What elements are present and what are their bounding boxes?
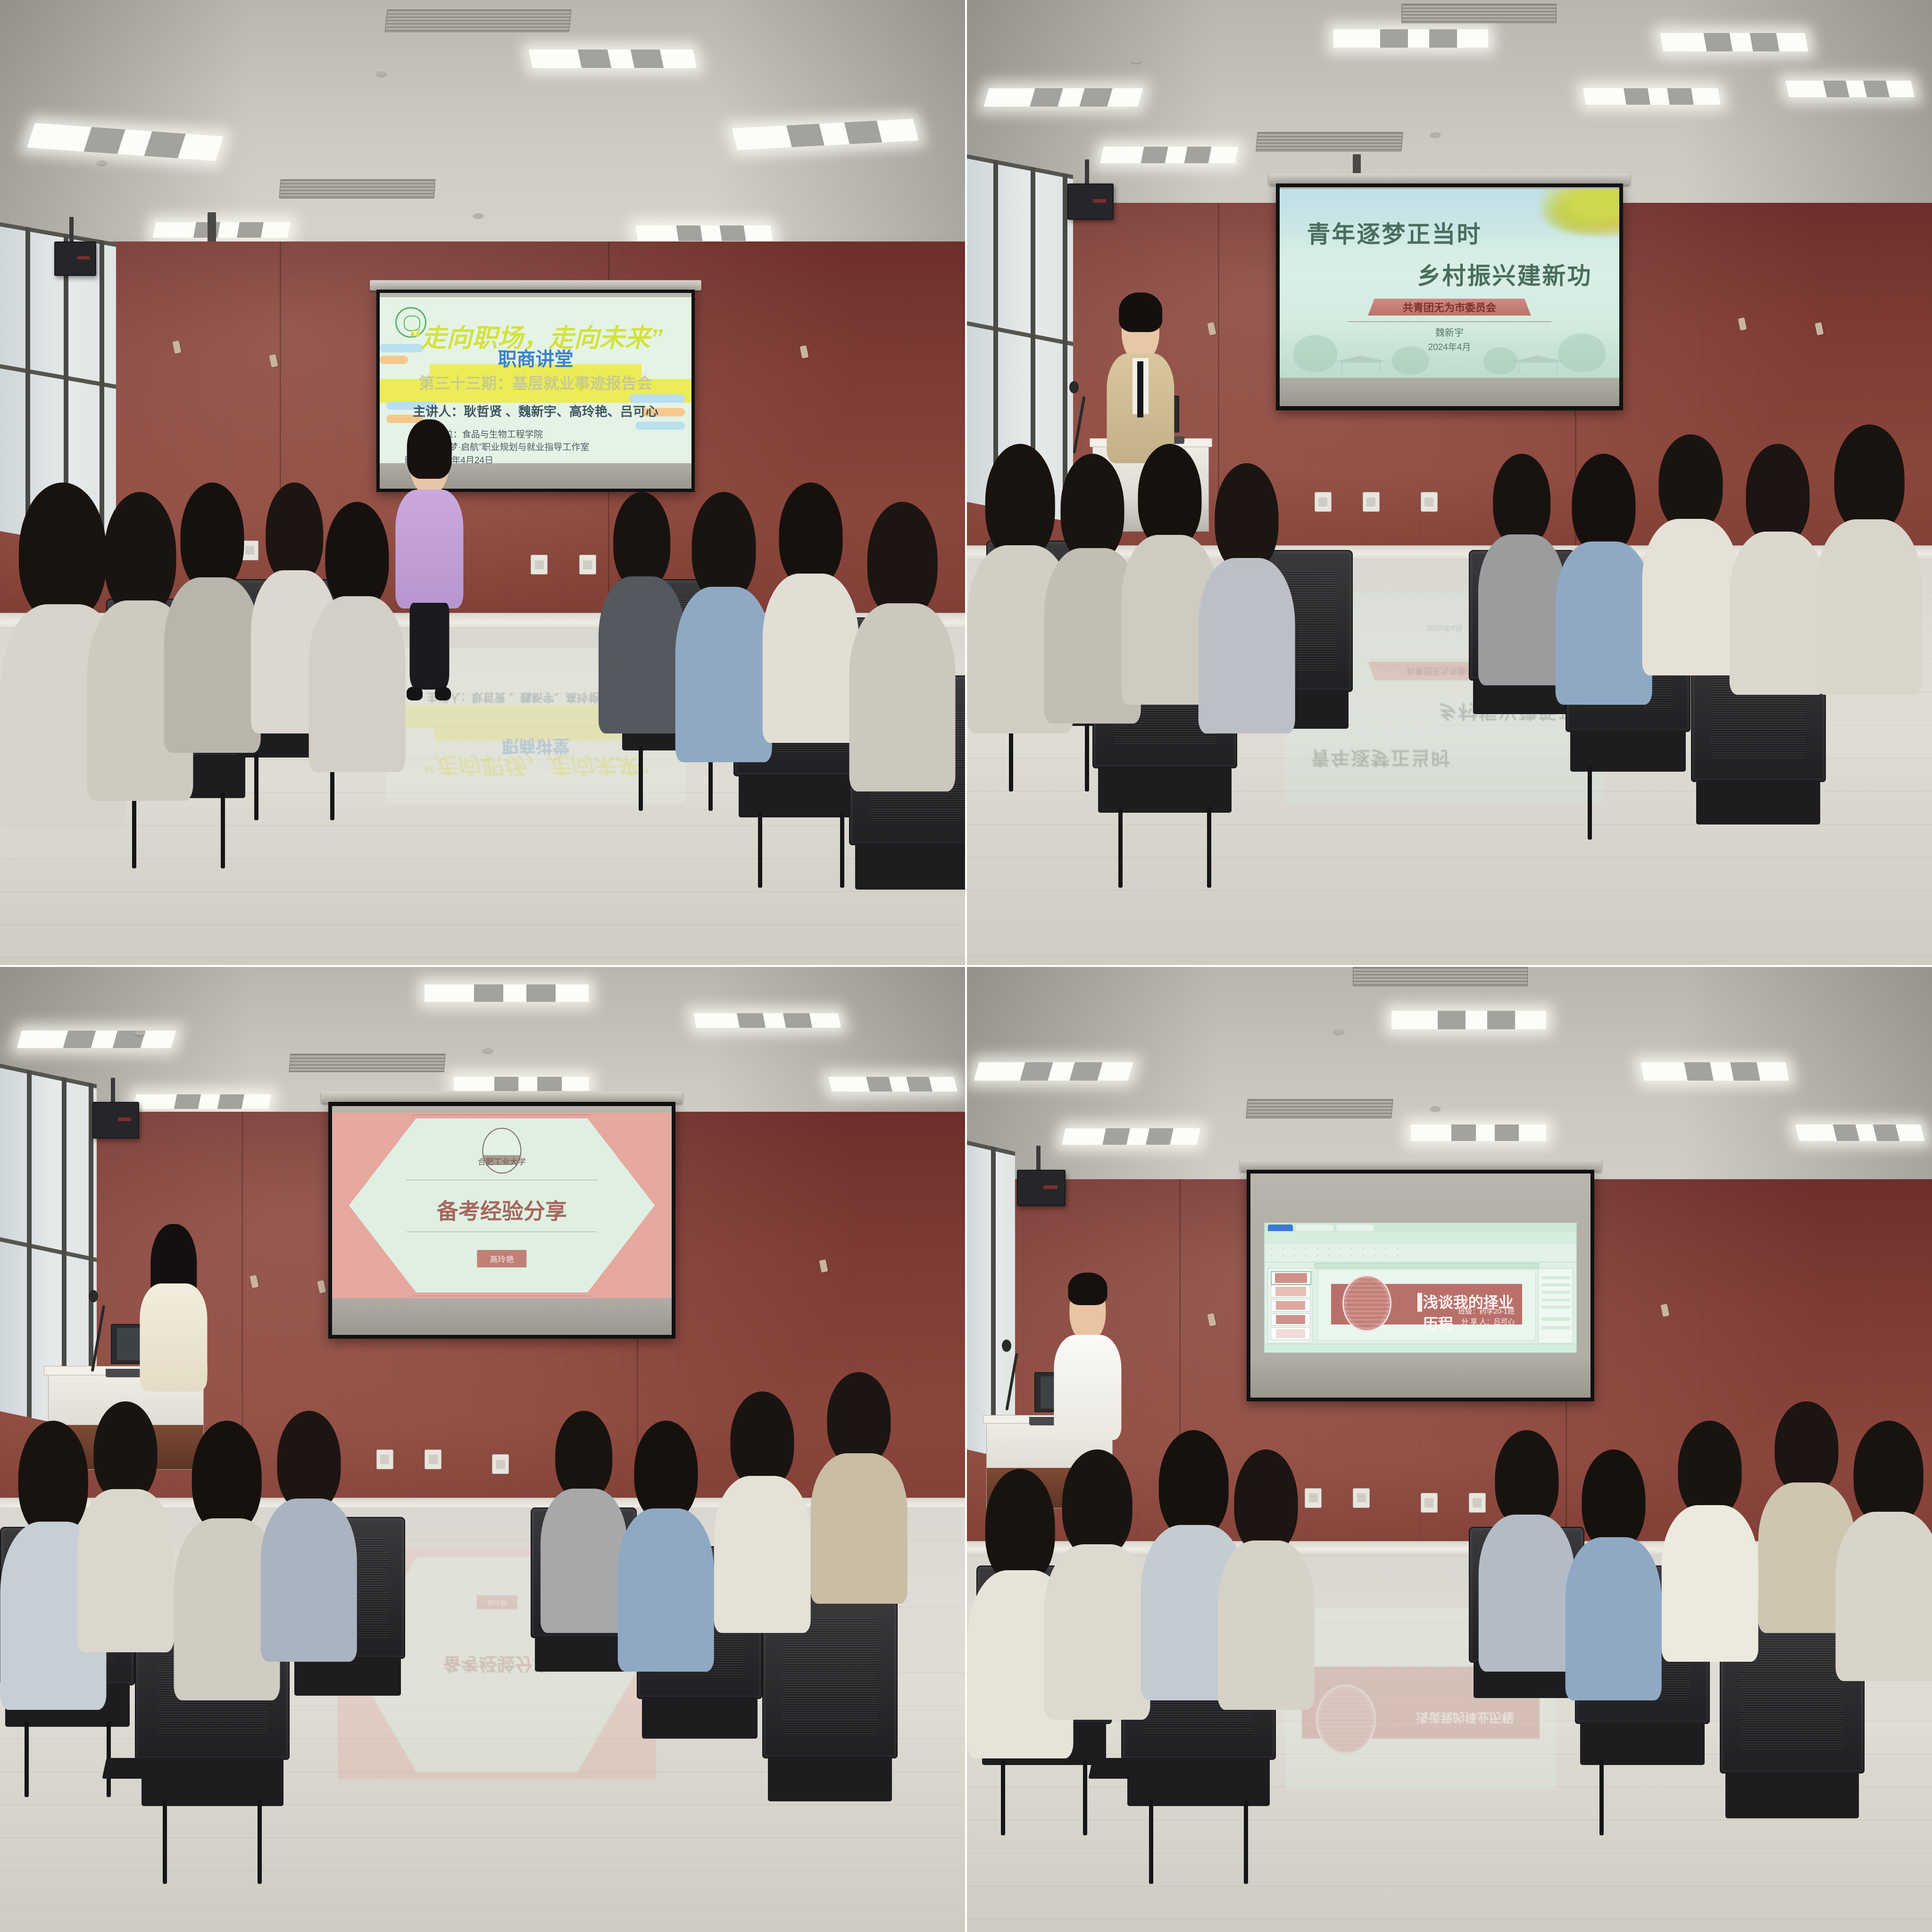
editor-side-panel[interactable] — [1538, 1268, 1574, 1343]
chair-seat — [142, 1758, 283, 1806]
audience-head — [692, 492, 756, 600]
slide-thumbnail-panel[interactable] — [1268, 1268, 1313, 1343]
university-seal-icon — [1342, 1275, 1391, 1331]
chair-leg — [1599, 1760, 1604, 1835]
audience-head — [613, 492, 671, 589]
smoke-detector-icon — [1333, 1029, 1344, 1034]
chair-leg — [1149, 1800, 1153, 1884]
audience-shoulders — [599, 576, 685, 733]
presenter — [1107, 299, 1174, 463]
power-outlet — [376, 1449, 393, 1469]
audience-member — [762, 483, 859, 743]
panel-bottom-left: 合肥工业大学 备考经验分享 高玲艳 备考经验分享 高玲艳 — [0, 967, 965, 1932]
slide-title: 备考经验分享 — [332, 1194, 672, 1225]
audience-shoulders — [77, 1489, 174, 1652]
power-outlet — [492, 1454, 509, 1474]
window-frame — [0, 364, 116, 389]
audience-head — [1138, 444, 1201, 548]
audience-shoulders — [1566, 1537, 1662, 1700]
ceiling-light — [425, 984, 589, 1002]
audience-head — [867, 502, 938, 618]
audience-shoulders — [617, 1508, 714, 1672]
power-outlet — [1421, 1493, 1438, 1513]
projection-screen: · · · · · · · · · · ▫ ▫ ▫ ▫ ▫ ▫ ▫ ▫ ▫ ▫ … — [1247, 1170, 1594, 1401]
chair-leg — [1085, 721, 1089, 791]
wall-speaker — [92, 1102, 139, 1139]
editor-title-bar — [1265, 1223, 1576, 1232]
slide-exam-prep: 合肥工业大学 备考经验分享 高玲艳 — [332, 1113, 672, 1298]
audience-shoulders — [309, 596, 406, 772]
screen-frame: 青年逐梦正当时 乡村振兴建新功 共青团无为市委员会 魏新宇 2024年4月 — [1276, 183, 1624, 410]
chair-leg — [163, 1800, 167, 1884]
ceiling-light — [17, 1031, 176, 1048]
chair-seat — [1127, 1758, 1269, 1806]
ceiling-light — [1411, 1124, 1546, 1141]
chair-seat — [294, 1657, 401, 1696]
chair — [762, 1594, 897, 1874]
slide-thumbnail[interactable] — [1271, 1299, 1310, 1312]
projection-screen: 青年逐梦正当时 乡村振兴建新功 共青团无为市委员会 魏新宇 2024年4月 — [1276, 183, 1624, 410]
presenter-torso — [396, 490, 463, 608]
audience-head — [1572, 454, 1636, 554]
ceiling-light — [1333, 29, 1488, 48]
slide-subtitle: 职商讲堂 — [380, 344, 691, 371]
audience-head — [1582, 1449, 1645, 1550]
thumbnail-preview — [1276, 1329, 1305, 1338]
audience-member — [849, 502, 955, 791]
audience-head — [1493, 454, 1551, 546]
slide-meta-line1: 班级：药学20-1班 — [1438, 1307, 1515, 1317]
slide-university-name: 合肥工业大学 — [332, 1155, 672, 1167]
audience-head — [779, 483, 842, 587]
audience-member — [617, 1421, 714, 1672]
chair-seat — [739, 774, 863, 818]
slide-title-line2: 乡村振兴建新功 — [1417, 257, 1592, 291]
audience-member — [1218, 1449, 1315, 1710]
audience-shoulders — [1729, 532, 1826, 695]
editor-status-bar — [1265, 1344, 1576, 1352]
audience-member — [1642, 434, 1739, 676]
slide-date: 2024年4月 — [1280, 340, 1619, 353]
side-panel-row — [1541, 1291, 1570, 1294]
ceiling-light — [1062, 1128, 1200, 1145]
editor-tab[interactable] — [1296, 1224, 1333, 1231]
smoke-detector-icon — [483, 1048, 493, 1053]
audience-shoulders — [1816, 519, 1922, 695]
audience-head — [1678, 1421, 1742, 1517]
audience-head — [1659, 434, 1723, 531]
audience-member — [309, 502, 406, 772]
power-outlet — [531, 555, 548, 575]
side-panel-row — [1541, 1317, 1570, 1320]
audience-member — [1199, 463, 1295, 733]
slide-leaf-decoration-icon — [1524, 189, 1619, 246]
air-vent — [1256, 132, 1403, 151]
ceiling-light — [1583, 88, 1721, 105]
audience-head — [1834, 425, 1905, 533]
ceiling-light — [529, 50, 697, 68]
audience-shoulders — [1835, 1512, 1932, 1681]
chair-leg — [254, 753, 258, 820]
microphone-icon — [1002, 1340, 1011, 1352]
chair-tablet-arm — [1088, 1758, 1142, 1779]
slide-content: 浅谈我的择业历程 班级：药学20-1班 分 享 人：吕可心 — [1331, 1284, 1522, 1324]
audience-member — [1662, 1421, 1758, 1662]
slide-speakers: 主讲人：耿哲贤 、魏新宇、高玲艳、吕可心 — [380, 401, 691, 420]
slide-house-icon — [1511, 356, 1565, 373]
audience-head — [1060, 454, 1124, 562]
chair-seat — [1580, 1722, 1705, 1765]
audience-member — [1816, 425, 1922, 695]
chair-seat — [642, 1697, 758, 1739]
presenter-hair — [407, 419, 452, 479]
audience-head — [192, 1421, 262, 1532]
chair-leg — [25, 1721, 29, 1797]
slide-divider-bottom — [407, 1232, 597, 1232]
ceiling-light — [1660, 33, 1808, 51]
chair-leg — [1083, 1760, 1087, 1835]
audience-member — [1566, 1449, 1662, 1700]
audience-member — [541, 1411, 627, 1633]
slide-career-path-editor: · · · · · · · · · · ▫ ▫ ▫ ▫ ▫ ▫ ▫ ▫ ▫ ▫ … — [1264, 1223, 1577, 1352]
audience-shoulders — [164, 577, 261, 753]
slide-divider-top — [407, 1180, 597, 1181]
presenter-shoe — [407, 687, 423, 700]
chair-leg — [221, 793, 225, 868]
chair-leg — [1244, 1800, 1248, 1884]
audience-head — [1495, 1430, 1558, 1527]
photo-collage: “走向职场，走向未来” 职商讲堂 第三十三期：基层就业事迹报告会 主讲人：耿哲贤… — [0, 0, 1932, 1932]
window-wall — [967, 1141, 1015, 1460]
side-panel-row — [1541, 1299, 1570, 1301]
ceiling-light — [454, 1077, 589, 1091]
slide-presenter-name: 魏新宇 — [1280, 325, 1619, 339]
audience-shoulders — [675, 587, 772, 762]
window-mullion — [27, 1069, 32, 1418]
slide-accent-tick — [1417, 1293, 1422, 1312]
audience-shoulders — [1199, 558, 1295, 733]
presenter-hair — [1068, 1273, 1107, 1306]
audience-head — [1234, 1449, 1298, 1554]
window-frame — [0, 1237, 97, 1262]
presenter-legs — [410, 603, 449, 689]
screen-lower-apron — [1280, 378, 1619, 406]
audience-member — [811, 1372, 908, 1604]
audience-head — [1775, 1401, 1839, 1494]
audience-shoulders — [1478, 534, 1565, 685]
wall-speaker — [1067, 183, 1114, 220]
editor-ribbon-toolbar[interactable]: ▫ ▫ ▫ ▫ ▫ ▫ ▫ ▫ ▫ ▫ ▫ ▫ ▫ ▫ ▫ ▫ ▫ ▫ ▫ ▫ … — [1265, 1244, 1576, 1262]
slide-rural-revitalization: 青年逐梦正当时 乡村振兴建新功 共青团无为市委员会 魏新宇 2024年4月 — [1280, 189, 1619, 378]
audience-member — [260, 1411, 357, 1662]
ribbon-tab-labels: · · · · · · · · · · — [1271, 1234, 1570, 1239]
thumbnail-preview — [1275, 1273, 1307, 1283]
window-mullion — [991, 1146, 996, 1456]
slide-meta-line2: 分 享 人：吕可心 — [1438, 1317, 1515, 1327]
audience-member — [675, 492, 772, 762]
panel-bottom-right: · · · · · · · · · · ▫ ▫ ▫ ▫ ▫ ▫ ▫ ▫ ▫ ▫ … — [967, 967, 1932, 1932]
audience-shoulders — [541, 1489, 627, 1633]
ceiling-light — [636, 225, 774, 241]
slide-title-line1: 青年逐梦正当时 — [1307, 216, 1482, 250]
ceiling-light — [1795, 1124, 1924, 1141]
power-outlet — [1353, 1488, 1370, 1508]
ceiling-light — [974, 1062, 1134, 1081]
chair-seat — [1570, 730, 1686, 772]
air-vent — [1353, 967, 1527, 986]
ceiling-light — [1391, 1011, 1546, 1029]
presenter — [140, 1227, 208, 1391]
slide-session: 第三十三期：基层就业事迹报告会 — [380, 371, 691, 393]
chair-seat — [768, 1757, 892, 1801]
audience-head — [93, 1401, 157, 1502]
audience-member — [164, 483, 261, 753]
screen-surface: 青年逐梦正当时 乡村振兴建新功 共青团无为市委员会 魏新宇 2024年4月 — [1280, 187, 1619, 407]
ceiling-light — [153, 222, 291, 238]
audience-shoulders — [714, 1476, 811, 1632]
presenter-torso — [140, 1283, 208, 1392]
audience-member — [77, 1401, 174, 1652]
editor-tab[interactable] — [1336, 1224, 1374, 1231]
ceiling-light — [1641, 1062, 1789, 1081]
ceiling-light — [1785, 81, 1915, 97]
ceiling-light — [133, 1094, 271, 1109]
chair-leg — [132, 793, 136, 868]
chair-seat — [1098, 766, 1231, 813]
screen-frame: 合肥工业大学 备考经验分享 高玲艳 — [328, 1102, 676, 1338]
presenter — [396, 425, 463, 695]
presenter-shoe — [435, 687, 451, 700]
chair-mesh — [782, 1618, 878, 1735]
window-frame — [967, 321, 1073, 346]
chair-leg — [1207, 807, 1211, 888]
chair-leg — [1001, 1760, 1005, 1835]
power-outlet — [579, 555, 596, 575]
slide-thumbnail[interactable] — [1271, 1285, 1310, 1298]
audience-member — [1478, 1430, 1575, 1672]
editor-ruler — [1315, 1263, 1539, 1268]
editor-slide-canvas[interactable]: 浅谈我的择业历程 班级：药学20-1班 分 享 人：吕可心 — [1318, 1270, 1536, 1341]
ribbon-toolbar-row1: ▫ ▫ ▫ ▫ ▫ ▫ ▫ ▫ ▫ ▫ ▫ ▫ — [1271, 1246, 1570, 1250]
slide-thumbnail[interactable] — [1271, 1271, 1311, 1285]
power-outlet — [425, 1449, 441, 1469]
chair-tablet-arm — [102, 1758, 156, 1779]
presenter-hair — [1119, 292, 1162, 332]
screen-frame: · · · · · · · · · · ▫ ▫ ▫ ▫ ▫ ▫ ▫ ▫ ▫ ▫ … — [1247, 1170, 1594, 1401]
air-vent — [289, 1054, 446, 1072]
chair-leg — [758, 812, 762, 888]
ceiling-light — [693, 1013, 841, 1028]
ceiling-light — [828, 1077, 958, 1091]
slide-divider — [1348, 321, 1551, 322]
power-outlet — [1421, 492, 1438, 512]
audience-shoulders — [811, 1453, 908, 1604]
smoke-detector-icon — [1430, 132, 1441, 137]
chair-leg — [639, 746, 643, 810]
microphone-icon — [1069, 381, 1079, 393]
ribbon-toolbar-row2: ▫ ▫ ▫ ▫ ▫ ▫ ▫ ▫ ▫ ▫ ▫ ▫ — [1271, 1254, 1570, 1258]
smoke-detector-icon — [1430, 1106, 1441, 1111]
side-panel-row — [1541, 1326, 1570, 1329]
audience-member — [714, 1391, 811, 1633]
ceiling-light — [983, 88, 1143, 107]
air-vent — [279, 179, 436, 199]
slide-thumbnail[interactable] — [1271, 1327, 1310, 1340]
audience-shoulders — [1642, 519, 1739, 675]
chair-seat — [1696, 780, 1821, 825]
audience-shoulders — [1218, 1541, 1315, 1710]
chair-seat — [1725, 1772, 1858, 1818]
screen-surface: 合肥工业大学 备考经验分享 高玲艳 — [332, 1106, 672, 1335]
audience-shoulders — [762, 574, 859, 743]
audience-head — [181, 483, 244, 591]
air-vent — [1246, 1099, 1393, 1118]
audience-shoulders — [1478, 1515, 1575, 1671]
audience-head — [634, 1421, 698, 1521]
audience-shoulders — [1556, 541, 1652, 705]
air-vent — [1401, 4, 1557, 23]
chair-leg — [1118, 807, 1123, 888]
smoke-detector-icon — [473, 213, 483, 218]
side-panel-row — [1541, 1306, 1570, 1308]
audience-member — [1044, 1449, 1150, 1720]
slide-meta-block: 班级：药学20-1班 分 享 人：吕可心 — [1438, 1307, 1515, 1327]
presenter-torso — [1054, 1335, 1121, 1440]
chair-seat — [855, 843, 965, 890]
thumbnail-preview — [1275, 1287, 1306, 1296]
side-panel-row — [1541, 1283, 1570, 1286]
audience-member — [1729, 444, 1826, 695]
audience-member — [599, 492, 685, 733]
audience-head — [277, 1411, 341, 1511]
screen-surface: · · · · · · · · · · ▫ ▫ ▫ ▫ ▫ ▫ ▫ ▫ ▫ ▫ … — [1250, 1174, 1590, 1398]
panel-top-left: “走向职场，走向未来” 职商讲堂 第三十三期：基层就业事迹报告会 主讲人：耿哲贤… — [0, 0, 965, 965]
audience-shoulders — [1044, 1544, 1150, 1720]
audience-head — [555, 1411, 613, 1499]
wall-speaker — [54, 241, 97, 276]
thumbnail-preview — [1276, 1301, 1305, 1310]
audience-shoulders — [1662, 1505, 1758, 1662]
audience-member — [1478, 454, 1565, 685]
slide-presenter-tag: 高玲艳 — [477, 1250, 526, 1267]
presenter — [1054, 1276, 1121, 1440]
air-vent — [385, 9, 572, 32]
editor-ribbon-tabs[interactable]: · · · · · · · · · · — [1265, 1232, 1576, 1244]
ceiling-light — [1100, 147, 1239, 163]
side-panel-row — [1541, 1276, 1570, 1279]
chair-leg — [840, 812, 844, 888]
slide-house-icon — [1334, 356, 1388, 373]
audience-head — [1746, 444, 1809, 544]
chair-leg — [258, 1800, 262, 1884]
audience-shoulders — [260, 1499, 357, 1662]
audience-head — [1062, 1449, 1133, 1557]
audience-head — [325, 502, 389, 610]
chair-leg — [1588, 766, 1592, 840]
power-outlet — [1363, 492, 1380, 512]
projection-screen: 合肥工业大学 备考经验分享 高玲艳 — [328, 1102, 676, 1338]
audience-shoulders — [849, 603, 955, 791]
slide-thumbnail[interactable] — [1271, 1313, 1310, 1326]
audience-head — [827, 1372, 891, 1465]
audience-head — [1215, 463, 1279, 571]
presenter-necktie — [1137, 361, 1143, 417]
wall-speaker — [1017, 1170, 1065, 1207]
screen-lower-apron — [1250, 1357, 1590, 1397]
audience-member — [1556, 454, 1652, 705]
smoke-detector-icon — [376, 71, 387, 76]
audience-member — [1835, 1421, 1932, 1681]
thumbnail-preview — [1276, 1315, 1305, 1324]
slide-banner: 共青团无为市委员会 — [1368, 299, 1531, 316]
screen-lower-apron — [332, 1298, 672, 1335]
audience-head — [1854, 1421, 1924, 1525]
power-outlet — [1315, 492, 1332, 512]
editor-tab-active[interactable] — [1268, 1224, 1293, 1231]
audience-head — [731, 1391, 794, 1488]
panel-top-right: 青年逐梦正当时 乡村振兴建新功 共青团无为市委员会 魏新宇 2024年4月 青年… — [967, 0, 1932, 965]
